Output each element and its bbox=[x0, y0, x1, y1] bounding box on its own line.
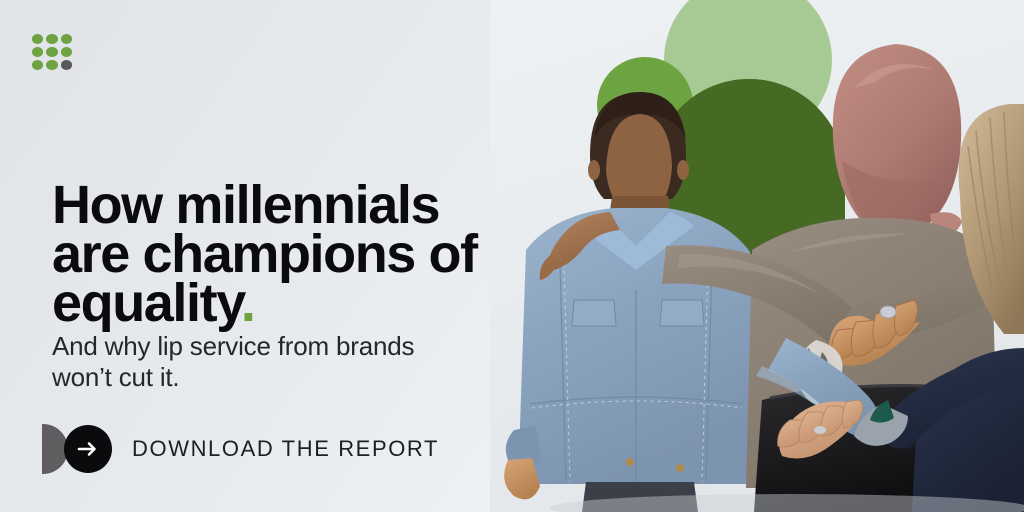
logo-dot bbox=[46, 34, 57, 44]
logo-dot bbox=[32, 34, 43, 44]
logo-dot bbox=[32, 60, 43, 70]
headline-accent-period: . bbox=[241, 273, 255, 333]
hero-banner: How millennials are champions of equalit… bbox=[0, 0, 1024, 512]
hero-photo bbox=[490, 0, 1024, 512]
cta-label: DOWNLOAD THE REPORT bbox=[132, 436, 439, 462]
subtitle-line-1: And why lip service from brands bbox=[52, 331, 414, 361]
subtitle-line-2: won’t cut it. bbox=[52, 362, 179, 392]
logo-dot bbox=[32, 47, 43, 57]
logo-dot-accent bbox=[61, 60, 72, 70]
arrow-right-icon[interactable] bbox=[64, 425, 112, 473]
subtitle: And why lip service from brands won’t cu… bbox=[52, 331, 522, 393]
logo-dot bbox=[46, 47, 57, 57]
logo-dot bbox=[46, 60, 57, 70]
download-the-report-button[interactable]: DOWNLOAD THE REPORT bbox=[42, 424, 439, 474]
logo-dot bbox=[61, 47, 72, 57]
nine-dot-grid-logo[interactable] bbox=[32, 34, 72, 70]
logo-dot bbox=[61, 34, 72, 44]
headline-line-3: equality bbox=[52, 273, 241, 333]
